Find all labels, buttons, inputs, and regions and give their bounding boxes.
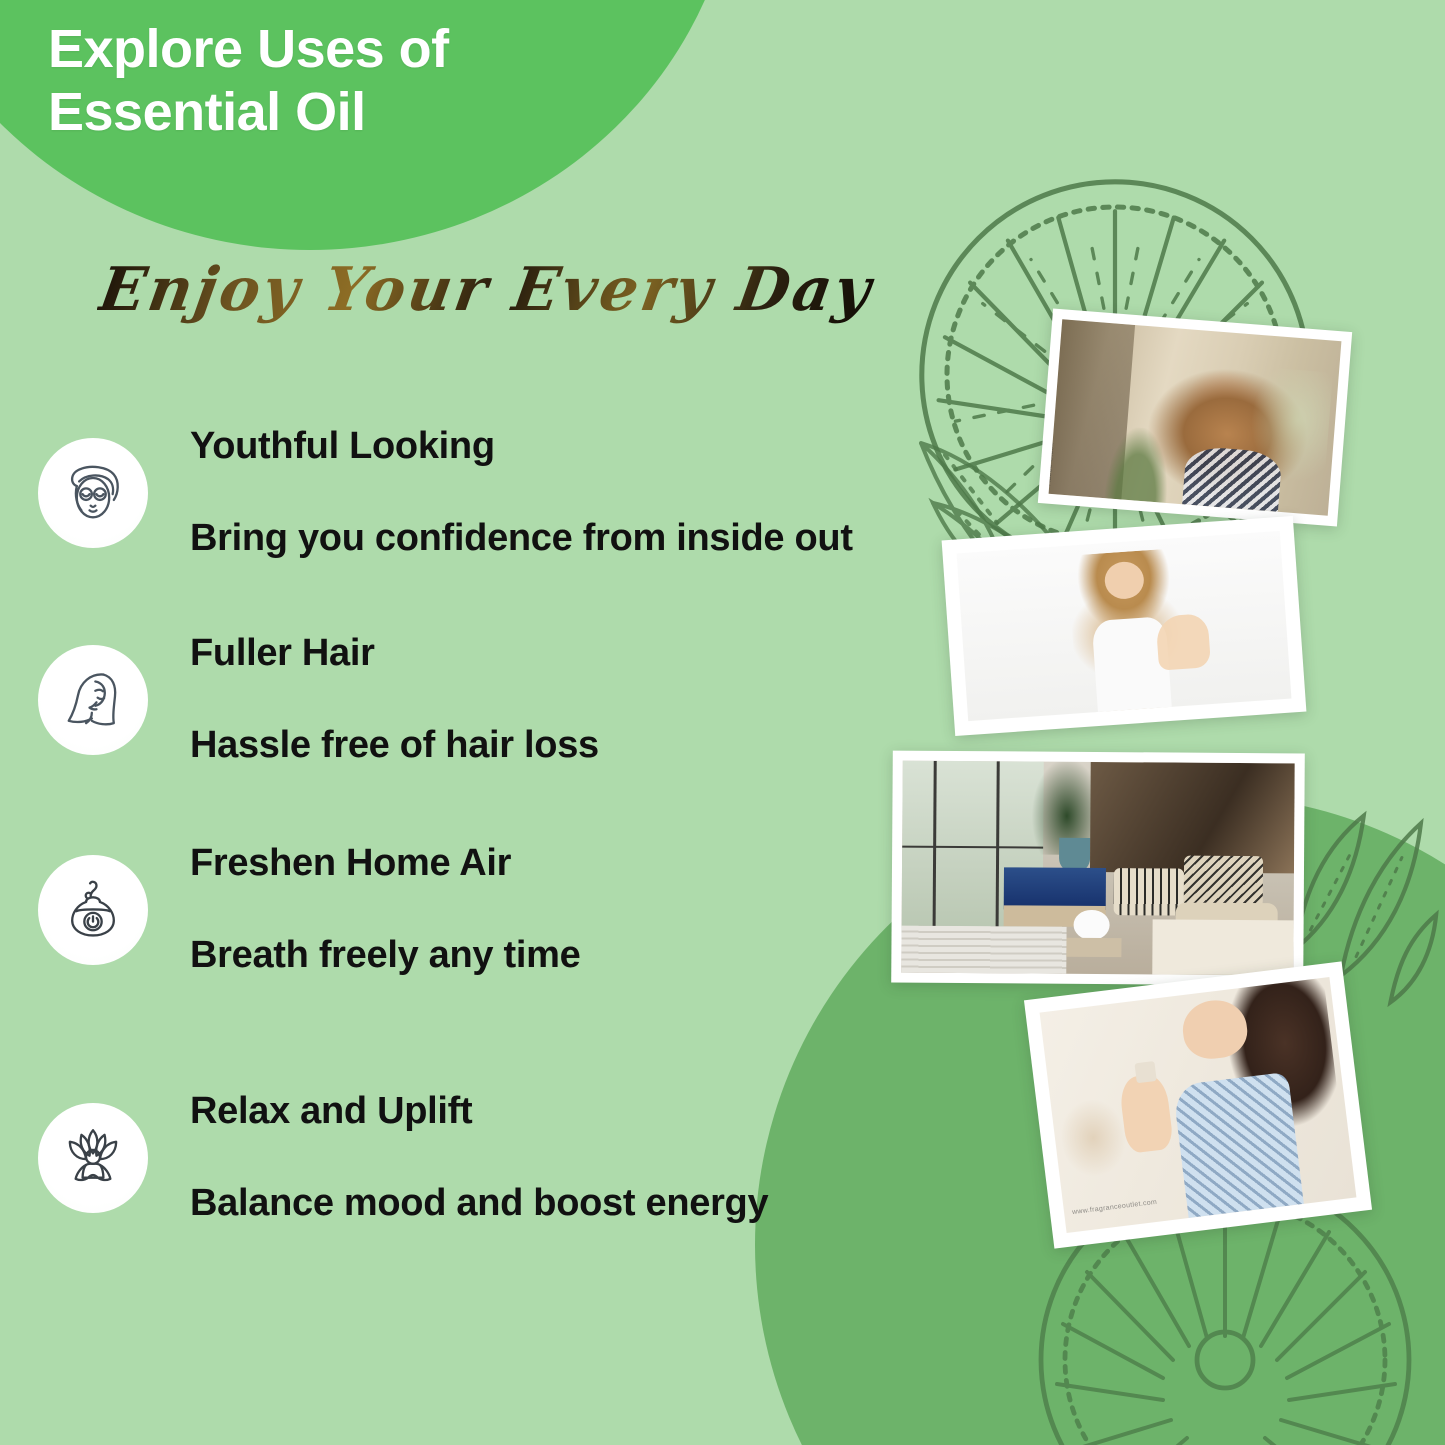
feature-2-text: Fuller Hair Hassle free of hair loss	[190, 585, 599, 815]
photo-4-image: www.fragranceoutlet.com	[1040, 977, 1357, 1233]
photo-3-image	[901, 761, 1294, 976]
feature-1-subtitle: Bring you confidence from inside out	[190, 516, 853, 562]
feature-item-freshen-home-air: Freshen Home Air Breath freely any time	[38, 795, 580, 1025]
feature-4-subtitle: Balance mood and boost energy	[190, 1181, 768, 1227]
feature-1-text: Youthful Looking Bring you confidence fr…	[190, 378, 853, 608]
feature-item-youthful-looking: Youthful Looking Bring you confidence fr…	[38, 378, 853, 608]
feature-2-subtitle: Hassle free of hair loss	[190, 723, 599, 769]
photo-woman-applying-perfume: www.fragranceoutlet.com	[1024, 961, 1372, 1248]
photo-boho-living-room	[891, 751, 1305, 986]
feature-4-text: Relax and Uplift Balance mood and boost …	[190, 1043, 768, 1273]
tagline-script: Enjoy Your Every Day	[94, 255, 878, 325]
feature-4-title: Relax and Uplift	[190, 1089, 768, 1135]
feature-3-text: Freshen Home Air Breath freely any time	[190, 795, 580, 1025]
photo-1-image: Adobe Stock	[1049, 319, 1342, 515]
feature-3-title: Freshen Home Air	[190, 841, 580, 887]
feature-2-title: Fuller Hair	[190, 631, 599, 677]
long-hair-woman-icon	[38, 645, 148, 755]
photo-4-watermark: www.fragranceoutlet.com	[1072, 1199, 1158, 1216]
photo-smiling-woman-indoors: Adobe Stock	[1038, 309, 1352, 527]
aroma-diffuser-icon	[38, 855, 148, 965]
feature-1-title: Youthful Looking	[190, 424, 853, 470]
feature-item-relax-and-uplift: Relax and Uplift Balance mood and boost …	[38, 1043, 768, 1273]
page-title: Explore Uses of Essential Oil	[48, 18, 449, 143]
feature-3-subtitle: Breath freely any time	[190, 933, 580, 979]
photo-2-image	[957, 531, 1292, 721]
infographic-canvas: Adobe Stock	[0, 0, 1445, 1445]
facial-mask-icon	[38, 438, 148, 548]
feature-item-fuller-hair: Fuller Hair Hassle free of hair loss	[38, 585, 599, 815]
photo-long-wavy-hair-woman	[942, 516, 1307, 736]
lotus-meditation-icon	[38, 1103, 148, 1213]
